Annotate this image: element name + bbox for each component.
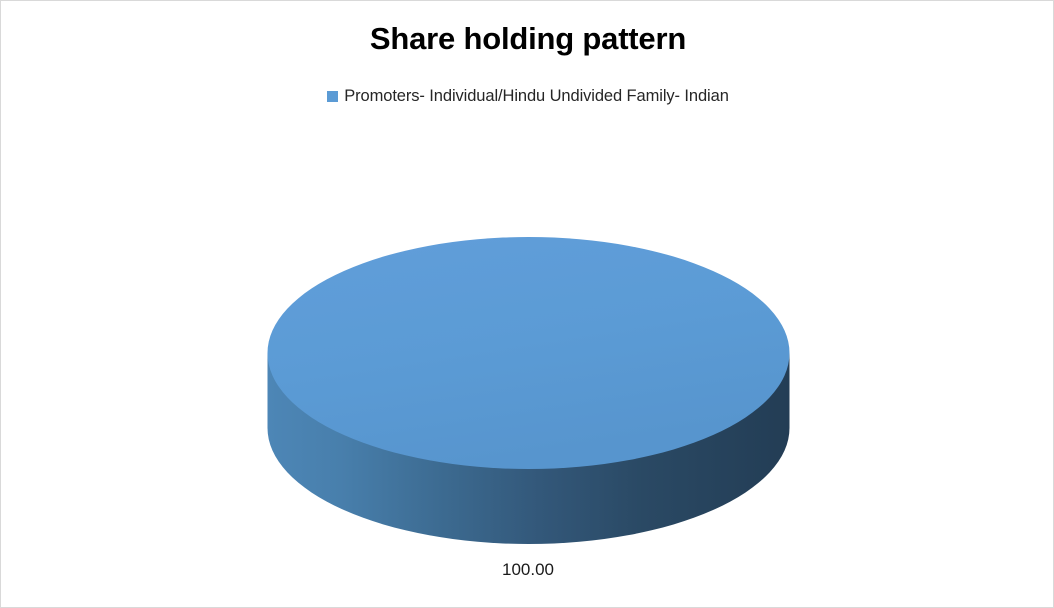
pie-chart-graphic bbox=[1, 1, 1054, 608]
pie-slice-top[interactable] bbox=[268, 237, 790, 469]
chart-frame: Share holding pattern Promoters- Individ… bbox=[0, 0, 1054, 608]
pie-slice-data-label: 100.00 bbox=[1, 559, 1054, 581]
plot-area bbox=[1, 1, 1054, 608]
